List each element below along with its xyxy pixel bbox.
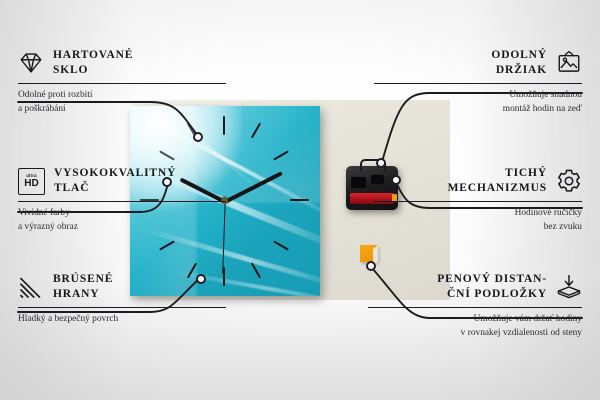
feature-head: TICHÝ MECHANIZMUS — [374, 166, 582, 196]
feature-title: ODOLNÝ DRŽIAK — [491, 48, 547, 78]
feature-desc: Hladký a bezpečný povrch — [18, 313, 226, 326]
gear-icon — [556, 168, 582, 194]
feature-head: HARTOVANÉ SKLO — [18, 48, 226, 78]
diamond-icon — [18, 50, 44, 76]
feature-head: ODOLNÝ DRŽIAK — [374, 48, 582, 78]
feature-title: VYSOKOKVALITNÝ TLAČ — [54, 166, 176, 196]
feature-ground-edges[interactable]: BRÚSENÉ HRANY Hladký a bezpečný povrch — [18, 272, 226, 327]
ultra-hd-icon-bottom: HD — [24, 179, 38, 189]
feature-title: PENOVÝ DISTAN- ČNÍ PODLOŽKY — [437, 272, 547, 302]
feature-desc: Umožňuje snadnou montáž hodin na zeď — [374, 89, 582, 116]
diagonal-lines-icon — [18, 274, 44, 300]
feature-desc: Hodinové ručičky bez zvuku — [374, 207, 582, 234]
infographic-canvas: HARTOVANÉ SKLO Odolné proti rozbití a po… — [0, 0, 600, 400]
clock-tick — [223, 116, 225, 135]
clock-tick — [290, 199, 309, 201]
press-down-pad-icon — [556, 274, 582, 300]
feature-head: BRÚSENÉ HRANY — [18, 272, 226, 302]
picture-hanger-icon — [556, 50, 582, 76]
ultra-hd-icon: ultra HD — [18, 168, 45, 195]
feature-foam-spacers[interactable]: PENOVÝ DISTAN- ČNÍ PODLOŽKY Umožňuje vám… — [368, 272, 582, 340]
feature-desc: Vividné farby a výrazný obraz — [18, 207, 226, 234]
feature-desc: Umožňuje vám držať hodiny v rovnakej vzd… — [368, 313, 582, 340]
feature-rule — [374, 201, 582, 202]
feature-hd-print[interactable]: ultra HD VYSOKOKVALITNÝ TLAČ Vividné far… — [18, 166, 226, 234]
feature-rule — [368, 307, 582, 308]
feature-holder[interactable]: ODOLNÝ DRŽIAK Umožňuje snadnou montáž ho… — [374, 48, 582, 116]
feature-head: ultra HD VYSOKOKVALITNÝ TLAČ — [18, 166, 226, 196]
foam-spacer-pad — [360, 245, 377, 262]
feature-rule — [374, 83, 582, 84]
feature-rule — [18, 83, 226, 84]
movement-slot — [351, 177, 366, 188]
feature-head: PENOVÝ DISTAN- ČNÍ PODLOŽKY — [368, 272, 582, 302]
feature-tempered-glass[interactable]: HARTOVANÉ SKLO Odolné proti rozbití a po… — [18, 48, 226, 116]
feature-title: HARTOVANÉ SKLO — [53, 48, 133, 78]
feature-silent-mechanism[interactable]: TICHÝ MECHANIZMUS Hodinové ručičky bez z… — [374, 166, 582, 234]
feature-rule — [18, 201, 226, 202]
feature-title: BRÚSENÉ HRANY — [53, 272, 113, 302]
feature-rule — [18, 307, 226, 308]
feature-title: TICHÝ MECHANIZMUS — [448, 166, 547, 196]
feature-desc: Odolné proti rozbití a poškrábání — [18, 89, 226, 116]
